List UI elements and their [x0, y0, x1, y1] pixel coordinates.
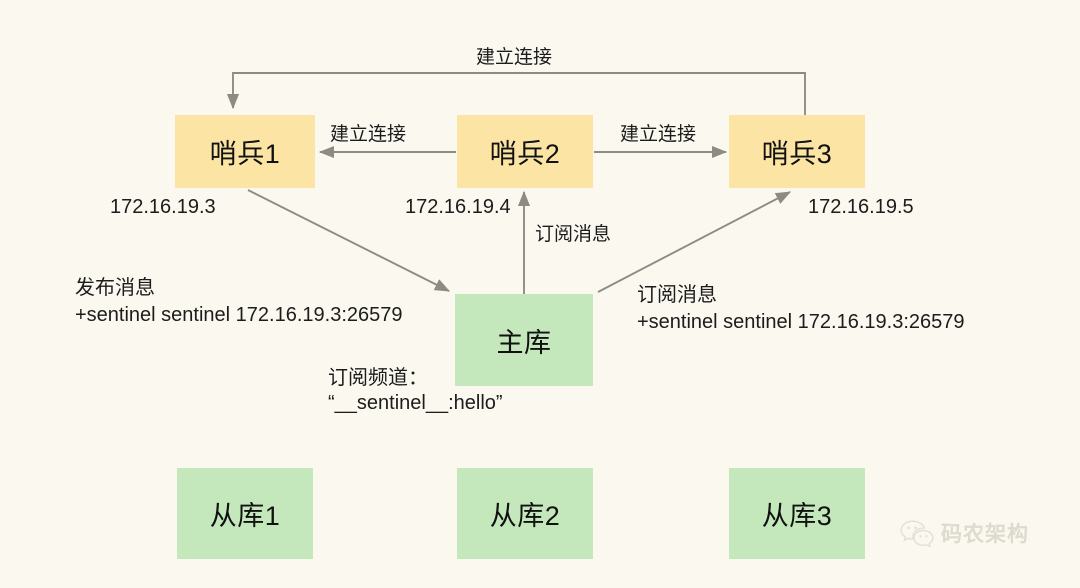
edge-label-s2-to-s3: 建立连接 [620, 123, 696, 147]
node-sentinel1[interactable]: 哨兵1 [175, 115, 315, 188]
node-sentinel3-label: 哨兵3 [762, 132, 833, 171]
ip-label-sentinel1: 172.16.19.3 [110, 195, 216, 221]
edge-label-s2-to-s1: 建立连接 [330, 123, 406, 147]
node-replica3[interactable]: 从库3 [729, 468, 865, 559]
edge-label-top-connect: 建立连接 [476, 46, 552, 70]
watermark-text: 码农架构 [941, 518, 1029, 548]
annotation-publish-title: 发布消息 [75, 276, 155, 302]
annotation-publish-command: +sentinel sentinel 172.16.19.3:26579 [75, 303, 403, 329]
node-master-db-label: 主库 [497, 321, 552, 360]
edge-label-master-to-s2: 订阅消息 [535, 223, 611, 247]
node-replica3-label: 从库3 [762, 494, 833, 533]
wechat-icon [900, 520, 934, 547]
node-sentinel3[interactable]: 哨兵3 [729, 115, 865, 188]
annotation-channel-title: 订阅频道： [328, 366, 518, 392]
edge-master-to-s3 [598, 192, 790, 292]
watermark: 码农架构 [900, 518, 1029, 548]
node-sentinel1-label: 哨兵1 [210, 132, 281, 171]
node-replica2-label: 从库2 [490, 494, 561, 533]
edge-top-connect [233, 73, 805, 115]
ip-label-sentinel2: 172.16.19.4 [405, 195, 511, 221]
ip-label-sentinel3: 172.16.19.5 [808, 195, 914, 221]
annotation-channel-name: “__sentinel__:hello” [328, 391, 550, 417]
annotation-subscribe-command: +sentinel sentinel 172.16.19.3:26579 [637, 310, 965, 336]
node-sentinel2-label: 哨兵2 [490, 132, 561, 171]
node-replica1-label: 从库1 [210, 494, 281, 533]
node-sentinel2[interactable]: 哨兵2 [457, 115, 593, 188]
diagram-canvas: 哨兵1 哨兵2 哨兵3 主库 从库1 从库2 从库3 建立连接 建立连接 建立连… [0, 0, 1080, 588]
node-replica1[interactable]: 从库1 [177, 468, 313, 559]
annotation-subscribe-title: 订阅消息 [637, 283, 717, 309]
node-replica2[interactable]: 从库2 [457, 468, 593, 559]
